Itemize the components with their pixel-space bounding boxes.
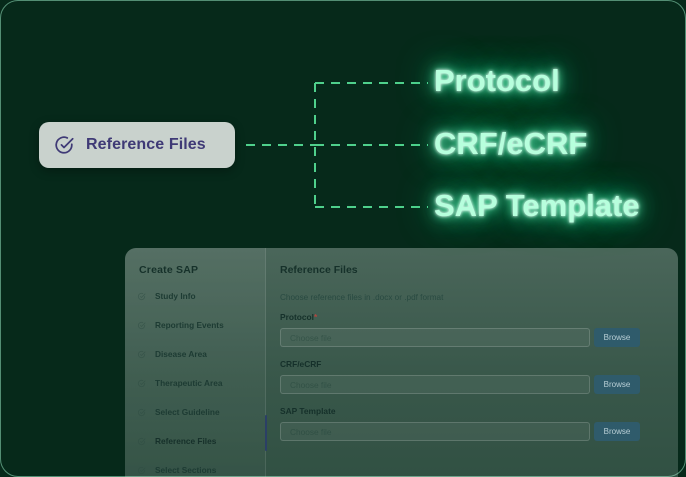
circle-check-icon: [137, 350, 146, 359]
sidebar-item-disease-area[interactable]: Disease Area: [137, 347, 265, 361]
active-step-indicator: [265, 415, 267, 451]
reference-files-chip[interactable]: Reference Files: [39, 122, 235, 168]
field-row-sap: Choose file Browse: [280, 422, 678, 441]
sidebar-item-select-sections[interactable]: Select Sections: [137, 463, 265, 477]
sidebar-item-label: Reporting Events: [155, 320, 224, 330]
field-label-sap: SAP Template: [280, 406, 678, 416]
field-row-protocol: Choose file Browse: [280, 328, 678, 347]
field-label-text: Protocol: [280, 312, 314, 322]
sidebar-item-label: Select Sections: [155, 465, 216, 475]
crf-browse-button[interactable]: Browse: [594, 375, 640, 394]
sidebar-item-label: Study Info: [155, 291, 196, 301]
circle-check-icon: [137, 437, 146, 446]
circle-check-icon: [137, 379, 146, 388]
sidebar-item-reporting-events[interactable]: Reporting Events: [137, 318, 265, 332]
circle-check-icon: [137, 292, 146, 301]
reference-files-chip-label: Reference Files: [86, 136, 206, 154]
page-subtitle: Choose reference files in .docx or .pdf …: [280, 293, 678, 302]
page-title: Reference Files: [280, 264, 678, 276]
sidebar-title: Create SAP: [139, 264, 265, 276]
circle-check-icon: [137, 408, 146, 417]
protocol-file-placeholder: Choose file: [290, 333, 332, 343]
card-main: Reference Files Choose reference files i…: [266, 248, 678, 477]
branch-label-sap: SAP Template: [434, 188, 640, 224]
field-label-protocol: Protocol*: [280, 312, 678, 322]
app-card: Create SAP Study Info Reporting Events D…: [125, 248, 678, 477]
circle-check-icon: [137, 321, 146, 330]
sidebar-item-label: Therapeutic Area: [155, 378, 222, 388]
field-row-crf: Choose file Browse: [280, 375, 678, 394]
sidebar-item-reference-files[interactable]: Reference Files: [137, 434, 265, 448]
sidebar-item-label: Disease Area: [155, 349, 207, 359]
protocol-file-input[interactable]: Choose file: [280, 328, 590, 347]
circle-check-icon: [137, 466, 146, 475]
sidebar-item-select-guideline[interactable]: Select Guideline: [137, 405, 265, 419]
crf-file-placeholder: Choose file: [290, 380, 332, 390]
protocol-browse-button[interactable]: Browse: [594, 328, 640, 347]
sidebar-item-study-info[interactable]: Study Info: [137, 289, 265, 303]
sidebar-item-label: Select Guideline: [155, 407, 220, 417]
sidebar-item-therapeutic-area[interactable]: Therapeutic Area: [137, 376, 265, 390]
branch-label-protocol: Protocol: [434, 63, 560, 99]
crf-file-input[interactable]: Choose file: [280, 375, 590, 394]
sap-file-placeholder: Choose file: [290, 427, 332, 437]
screenshot-root: Reference Files Protocol CRF/eCRF SAP Te…: [0, 0, 686, 477]
circle-check-icon: [53, 134, 75, 156]
sap-file-input[interactable]: Choose file: [280, 422, 590, 441]
card-sidebar: Create SAP Study Info Reporting Events D…: [125, 248, 266, 477]
field-label-crf: CRF/eCRF: [280, 359, 678, 369]
field-label-text: SAP Template: [280, 406, 336, 416]
branch-label-crf: CRF/eCRF: [434, 126, 587, 162]
sap-browse-button[interactable]: Browse: [594, 422, 640, 441]
sidebar-item-label: Reference Files: [155, 436, 216, 446]
field-label-text: CRF/eCRF: [280, 359, 321, 369]
required-marker: *: [314, 312, 317, 322]
